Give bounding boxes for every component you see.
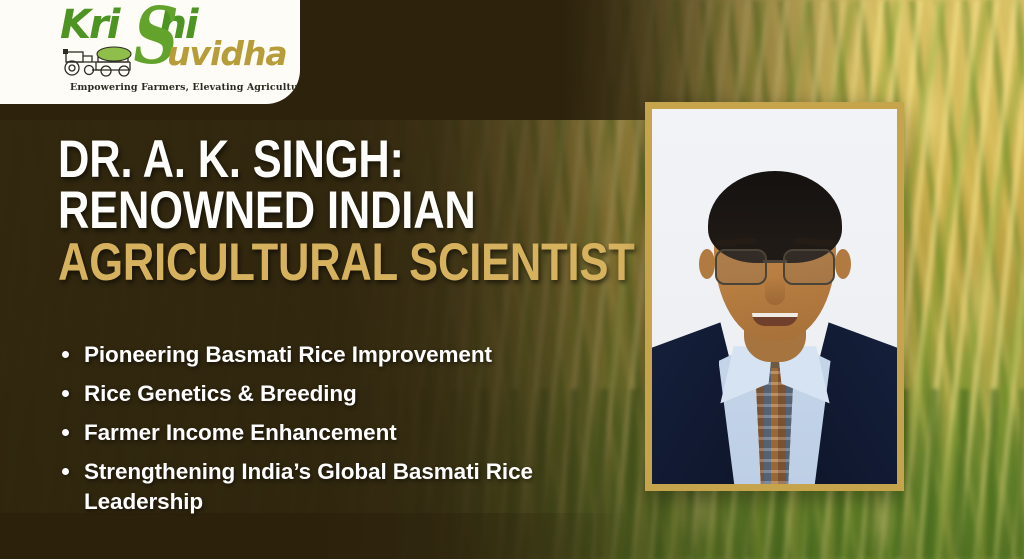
poster-banner: Krihi S uvidha [0, 0, 1024, 559]
list-item: Farmer Income Enhancement [62, 418, 662, 448]
list-item-label: Pioneering Basmati Rice Improvement [84, 340, 492, 370]
brand-logo: Krihi S uvidha [0, 0, 300, 104]
portrait-lens-right [783, 249, 835, 285]
bullet-dot-icon [62, 468, 69, 475]
list-item: Pioneering Basmati Rice Improvement [62, 340, 662, 370]
portrait-ear-right [835, 249, 851, 279]
brand-word-kri: Kri [60, 2, 118, 48]
brand-word-uvidha: uvidha [167, 37, 287, 70]
list-item: Rice Genetics & Breeding [62, 379, 662, 409]
bullet-dot-icon [62, 429, 69, 436]
headline-line-1: DR. A. K. SINGH: [58, 134, 566, 185]
portrait-mouth [752, 313, 798, 326]
portrait-ear-left [699, 249, 715, 279]
list-item-label: Strengthening India’s Global Basmati Ric… [84, 457, 574, 517]
list-item: Strengthening India’s Global Basmati Ric… [62, 457, 662, 517]
bullet-dot-icon [62, 351, 69, 358]
highlights-list: Pioneering Basmati Rice Improvement Rice… [62, 340, 662, 526]
portrait-nose [765, 277, 785, 305]
portrait-frame [645, 102, 904, 491]
list-item-label: Farmer Income Enhancement [84, 418, 397, 448]
brand-tagline: Empowering Farmers, Elevating Agricultur… [70, 82, 285, 93]
headline-block: DR. A. K. SINGH: RENOWNED INDIAN AGRICUL… [58, 134, 678, 288]
headline-line-3: AGRICULTURAL SCIENTIST [58, 237, 566, 288]
headline-line-2: RENOWNED INDIAN [58, 185, 566, 236]
portrait-lens-left [715, 249, 767, 285]
list-item-label: Rice Genetics & Breeding [84, 379, 357, 409]
tractor-icon [62, 44, 166, 78]
portrait-photo [652, 109, 897, 484]
brand-logo-panel[interactable]: Krihi S uvidha [0, 0, 300, 104]
bullet-dot-icon [62, 390, 69, 397]
